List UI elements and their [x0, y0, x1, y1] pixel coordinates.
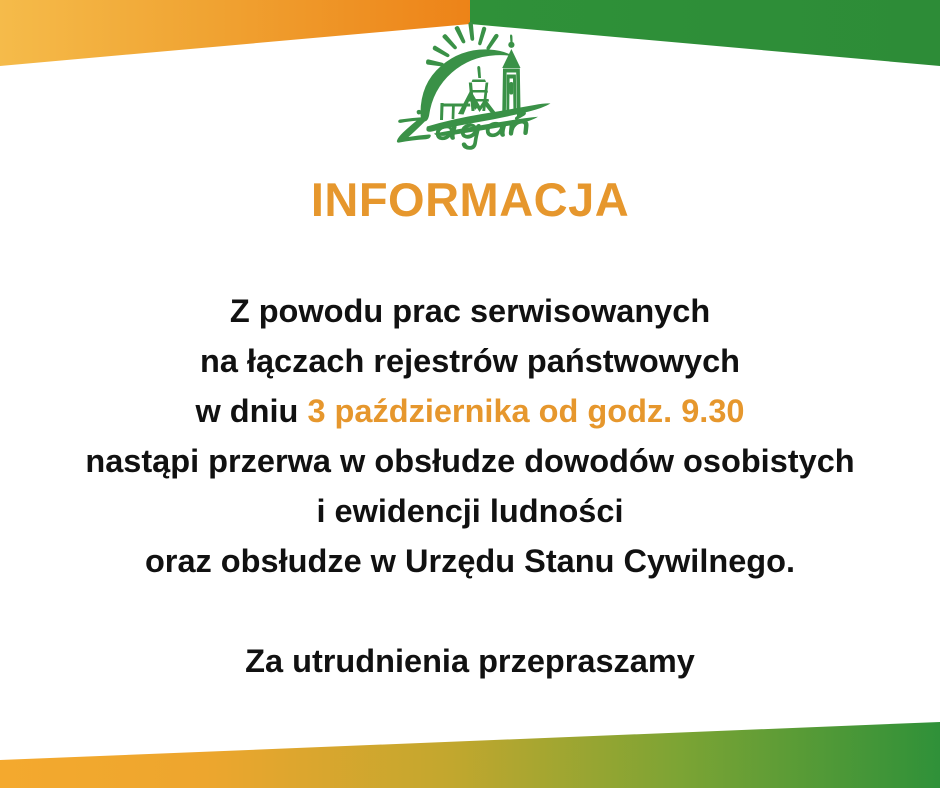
- body-line-spacer: [0, 586, 940, 636]
- body-line: nastąpi przerwa w obsłudze dowodów osobi…: [0, 436, 940, 486]
- mountains-icon: [458, 90, 498, 116]
- body-line: Z powodu prac serwisowanych: [0, 286, 940, 336]
- body-line: na łączach rejestrów państwowych: [0, 336, 940, 386]
- church-tower-icon: [502, 35, 520, 117]
- body-line: Za utrudnienia przepraszamy: [0, 636, 940, 686]
- body-line: w dniu 3 października od godz. 9.30: [0, 386, 940, 436]
- body-line: i ewidencji ludności: [0, 486, 940, 536]
- body-line: oraz obsłudze w Urzędu Stanu Cywilnego.: [0, 536, 940, 586]
- logo-container: [0, 18, 940, 158]
- announcement-body: Z powodu prac serwisowanychna łączach re…: [0, 286, 940, 686]
- body-text: Za utrudnienia przepraszamy: [245, 643, 695, 679]
- page-title: INFORMACJA: [0, 172, 940, 227]
- body-text: Z powodu prac serwisowanych: [230, 293, 710, 329]
- body-text: na łączach rejestrów państwowych: [200, 343, 740, 379]
- body-text: i ewidencji ludności: [316, 493, 623, 529]
- highlighted-date-text: 3 października od godz. 9.30: [307, 393, 744, 429]
- bottom-gradient-band: [0, 722, 940, 788]
- body-text: oraz obsłudze w Urzędu Stanu Cywilnego.: [145, 543, 795, 579]
- zagan-town-logo: [382, 18, 558, 150]
- body-text: w dniu: [196, 393, 308, 429]
- sun-arc-icon: [420, 49, 514, 121]
- body-text: nastąpi przerwa w obsłudze dowodów osobi…: [85, 443, 854, 479]
- announcement-poster: INFORMACJA Z powodu prac serwisowanychna…: [0, 0, 940, 788]
